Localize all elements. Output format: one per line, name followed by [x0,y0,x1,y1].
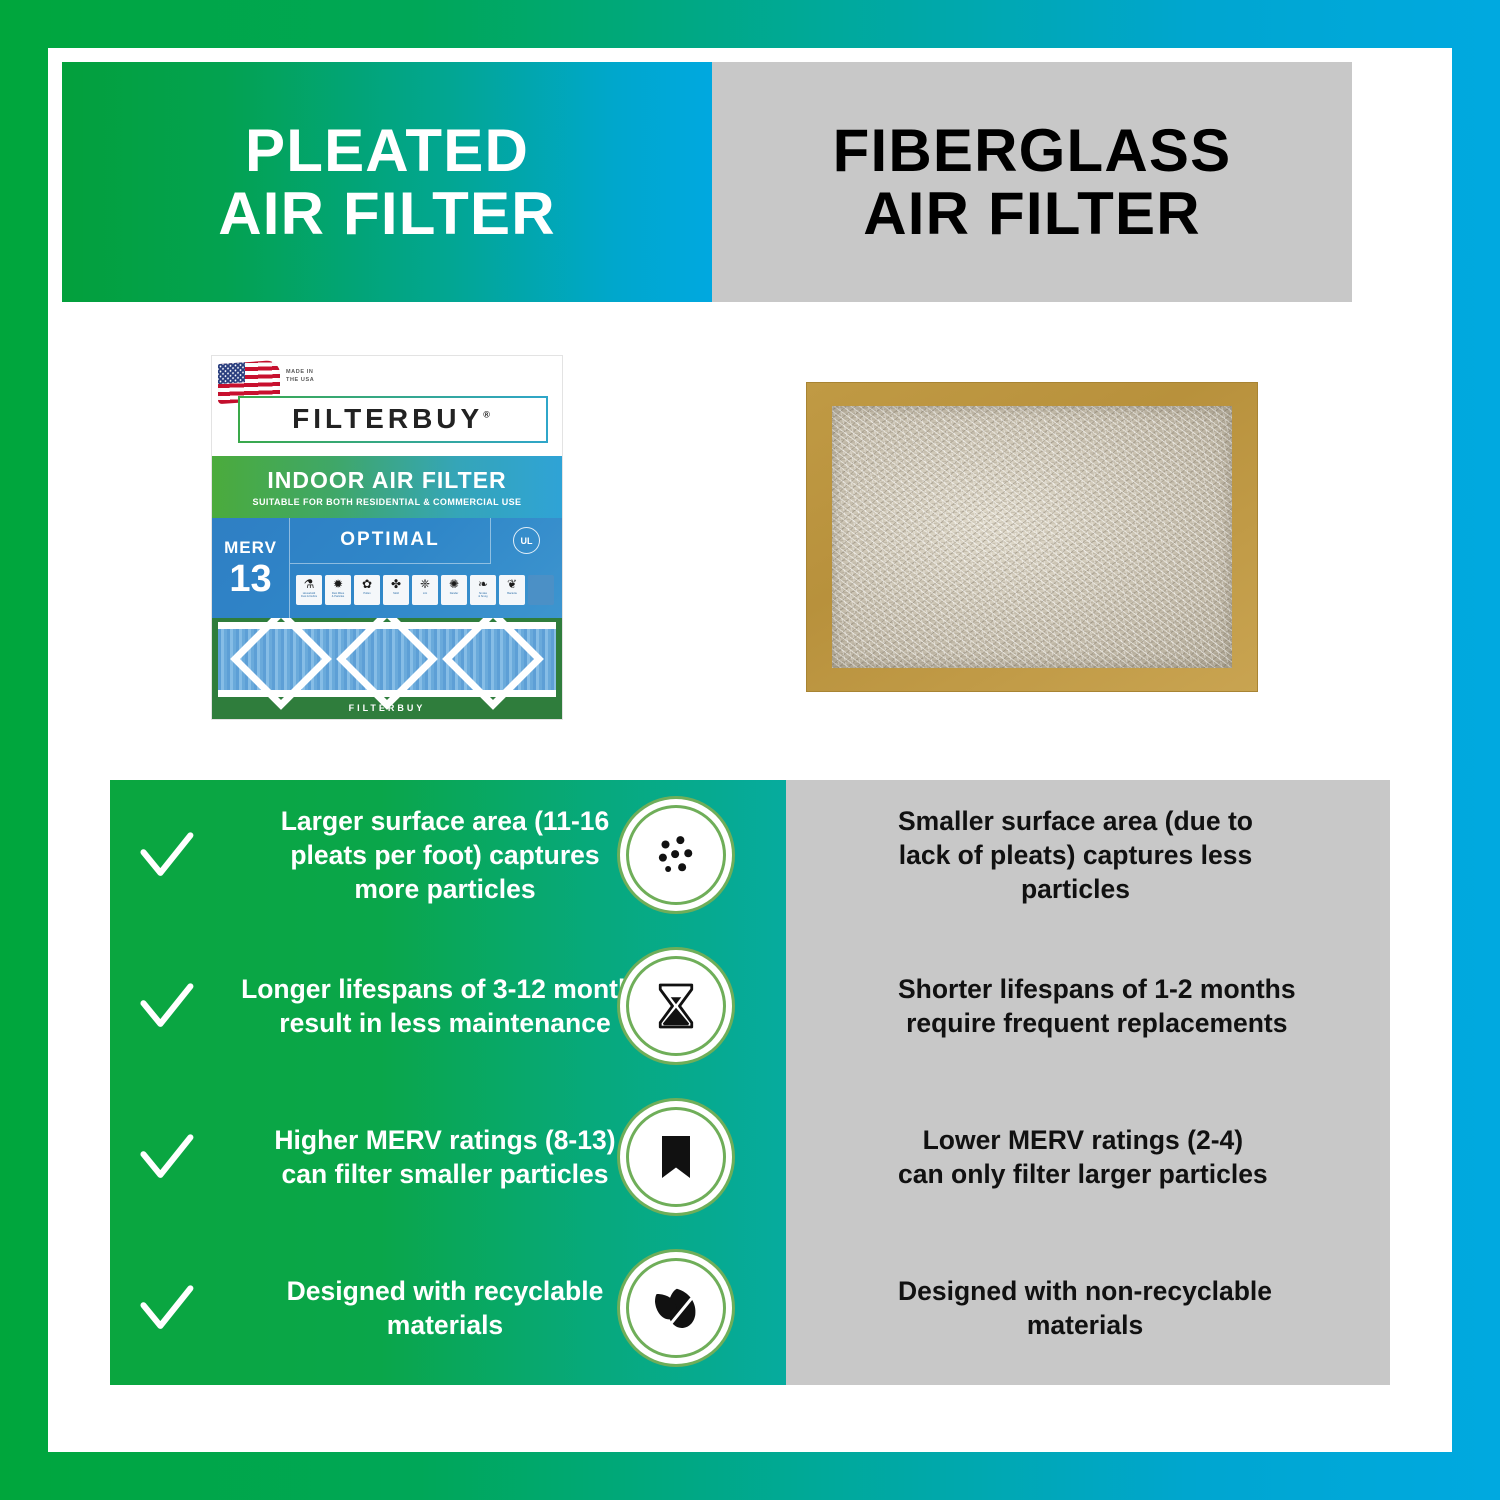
bacteria-icon: ❦ [507,578,517,590]
fiberglass-filter-image-cell [712,302,1352,772]
brand-name: FILTERBUY® [292,403,494,435]
filtration-icon-0: ⚗ Household Dust & Debris [296,575,322,605]
list-item: Lower MERV ratings (2-4) can only filter… [786,1083,1390,1234]
filtration-icon-3: ✤ Mold [383,575,409,605]
hourglass-icon [648,978,704,1034]
medallion-hourglass [626,956,726,1056]
merv-badge: MERV 13 [212,518,290,618]
smoke-smog-icon: ❧ [478,578,488,590]
mold-icon: ✤ [391,578,401,590]
filtration-caption-0: Household Dust & Debris [301,592,317,598]
header-pleated-title: PLEATED AIR FILTER [218,119,556,245]
filtration-icon-4: ❈ Lint [412,575,438,605]
made-in-usa-label: MADE IN THE USA [286,368,314,385]
check-icon-wrap-2 [110,1128,222,1188]
bookmark-icon [648,1129,704,1185]
header-fiberglass-title: FIBERGLASS AIR FILTER [833,119,1232,245]
filtration-caption-1: Dust Mites & Particles [332,592,344,598]
header-pleated: PLEATED AIR FILTER [62,62,712,302]
dander-icon: ✺ [449,578,459,590]
filtration-icon-6: ❧ Smoke & Smog [470,575,496,605]
filtration-caption-3: Mold [393,592,399,595]
filtration-caption-7: Bacteria [507,592,517,595]
fiberglass-drawback-list: Smaller surface area (due to lack of ple… [786,780,1390,1385]
comparison-panel: Larger surface area (11-16 pleats per fo… [110,780,1390,1385]
ul-certification-mark: UL [490,518,562,564]
fiberglass-media-texture [832,406,1232,668]
header-fiberglass: FIBERGLASS AIR FILTER [712,62,1352,302]
filtration-icon-1: ✹ Dust Mites & Particles [325,575,351,605]
dust-mites-icon: ✹ [333,578,343,590]
filtration-caption-2: Pollen [363,592,370,595]
pleated-filter-image-cell: MADE IN THE USA FILTERBUY® INDOOR AIR FI… [62,302,712,772]
check-icon-wrap-0 [110,826,222,886]
filtration-caption-5: Dander [450,592,459,595]
indoor-band-line2: SUITABLE FOR BOTH RESIDENTIAL & COMMERCI… [253,497,522,507]
tier-label: OPTIMAL [340,529,440,551]
lint-icon: ❈ [420,578,430,590]
comparison-column-fiberglass: Smaller surface area (due to lack of ple… [786,780,1390,1385]
filterbuy-product-box: MADE IN THE USA FILTERBUY® INDOOR AIR FI… [211,355,563,720]
brand-registered-mark: ® [483,410,494,420]
brand-logo-box: FILTERBUY® [238,396,548,443]
check-icon-wrap-1 [110,977,222,1037]
fiberglass-text-0: Smaller surface area (due to lack of ple… [786,805,1295,907]
check-icon-wrap-3 [110,1279,222,1339]
list-item: Designed with non-recyclable materials [786,1234,1390,1385]
filtration-icon-row: ⚗ Household Dust & Debris ✹ Dust Mites &… [296,568,558,612]
check-icon [136,977,196,1037]
indoor-band-line1: INDOOR AIR FILTER [267,467,506,494]
product-image-row: MADE IN THE USA FILTERBUY® INDOOR AIR FI… [62,302,1352,772]
list-item: Shorter lifespans of 1-2 months require … [786,931,1390,1082]
merv-label: MERV [224,538,277,558]
fiberglass-text-1: Shorter lifespans of 1-2 months require … [786,973,1338,1041]
fiberglass-text-2: Lower MERV ratings (2-4) can only filter… [786,1124,1310,1192]
check-icon [136,1279,196,1339]
pleat-support-frame [218,622,556,697]
box-footer-brand: FILTERBUY [212,697,562,719]
filtration-icon-5: ✺ Dander [441,575,467,605]
check-icon [136,1128,196,1188]
header-band: PLEATED AIR FILTER FIBERGLASS AIR FILTER [62,62,1352,302]
fiberglass-product-image [806,382,1258,692]
filtration-caption-6: Smoke & Smog [478,592,487,598]
pleated-media-area: FILTERBUY [212,618,562,719]
ul-circle-icon: UL [513,527,540,554]
list-item: Smaller surface area (due to lack of ple… [786,780,1390,931]
filtration-caption-4: Lint [423,592,427,595]
indoor-air-filter-band: INDOOR AIR FILTER SUITABLE FOR BOTH RESI… [212,456,562,518]
filtration-icon-2: ✿ Pollen [354,575,380,605]
leaves-icon [648,1280,704,1336]
household-dust-icon: ⚗ [304,578,315,590]
fiberglass-text-3: Designed with non-recyclable materials [786,1275,1314,1343]
medallion-bookmark [626,1107,726,1207]
merv-value: 13 [229,560,271,598]
box-top-white-area: MADE IN THE USA FILTERBUY® [212,356,562,456]
medallion-particles [626,805,726,905]
filtration-icon-7: ❦ Bacteria [499,575,525,605]
pollen-icon: ✿ [362,578,372,590]
medallion-leaves [626,1258,726,1358]
brand-name-text: FILTERBUY [292,403,483,434]
filtration-icon-8-muted [528,575,554,605]
check-icon [136,826,196,886]
tier-label-wrap: OPTIMAL [290,518,490,564]
particles-icon [648,827,704,883]
spec-band: MERV 13 OPTIMAL UL ⚗ Household Dust & De… [212,518,562,618]
